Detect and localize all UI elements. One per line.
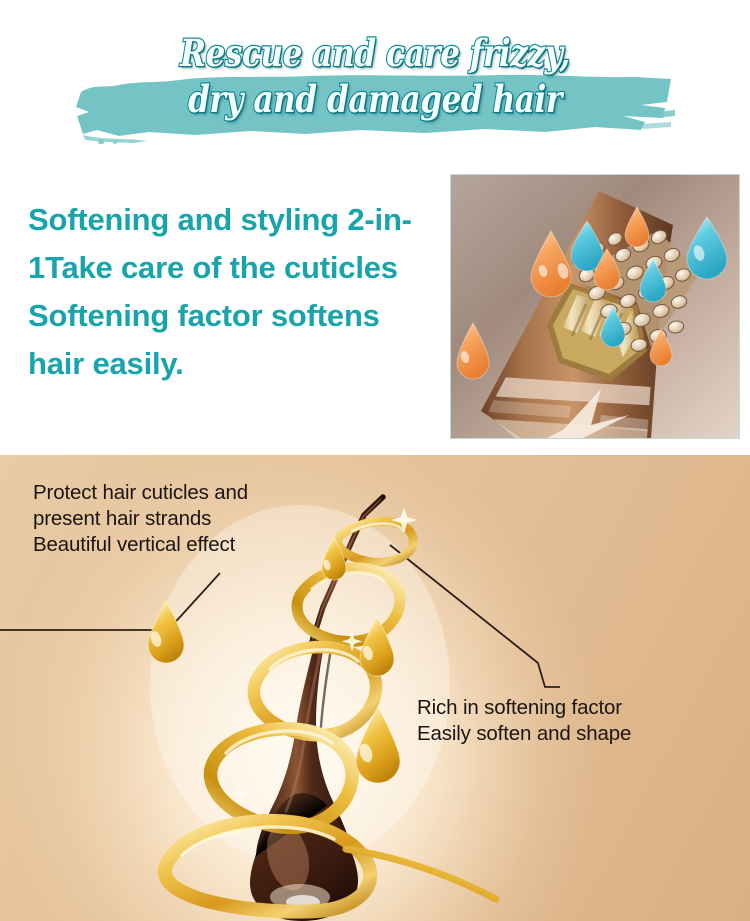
callout-left-text: Protect hair cuticles and present hair s… (33, 480, 248, 558)
banner-section: Rescue and care frizzy, dry and damaged … (0, 0, 750, 170)
intro-copy-text: Softening and styling 2-in-1Take care of… (28, 196, 432, 388)
banner-headline: Rescue and care frizzy, dry and damaged … (60, 30, 690, 122)
lower-illustration-section: Protect hair cuticles and present hair s… (0, 455, 750, 921)
callout-right-text: Rich in softening factor Easily soften a… (417, 695, 631, 747)
hair-cuticle-photo (450, 174, 740, 439)
upper-content-section: Softening and styling 2-in-1Take care of… (0, 170, 750, 455)
product-marketing-image: Rescue and care frizzy, dry and damaged … (0, 0, 750, 921)
